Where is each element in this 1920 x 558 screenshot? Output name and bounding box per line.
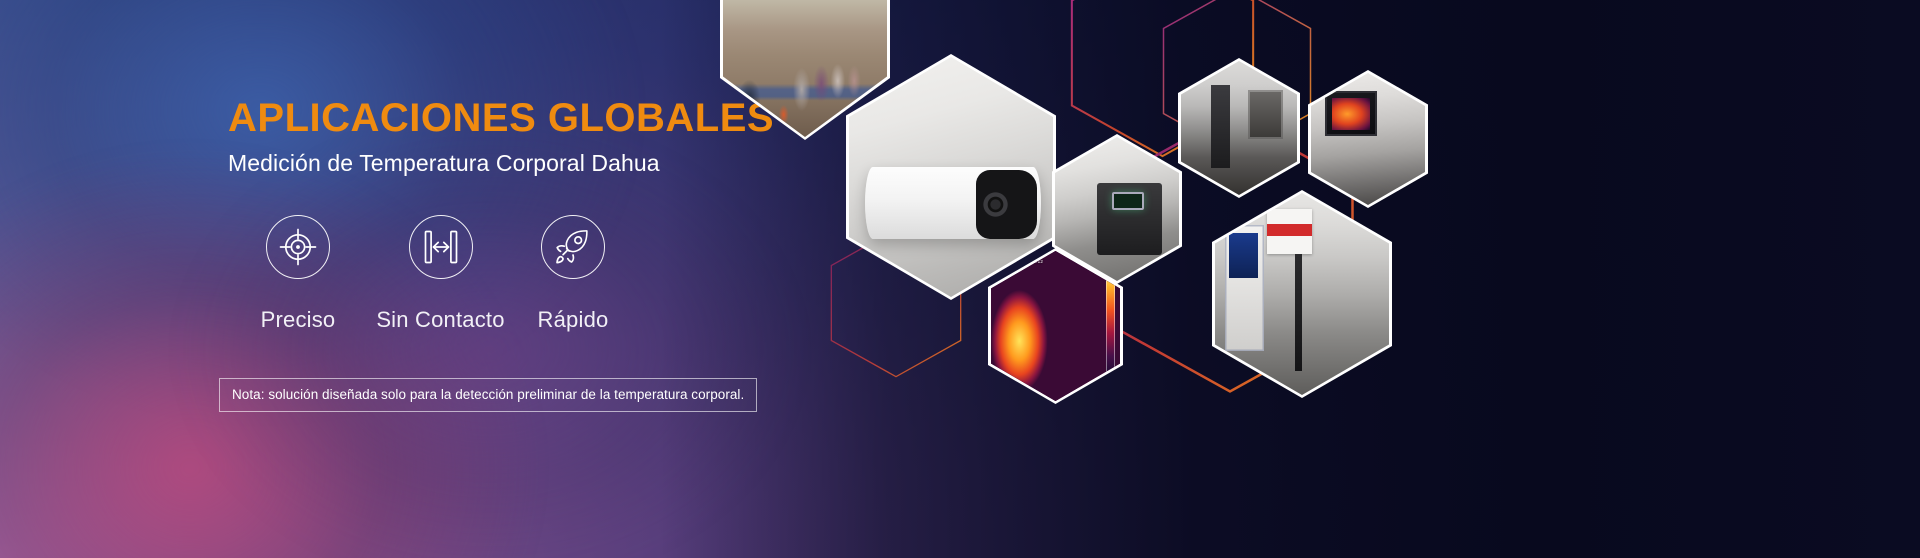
left-content-area: APLICACIONES GLOBALES Medición de Temper…: [0, 0, 760, 558]
warning-sign: [1267, 209, 1312, 253]
feature-sin-contacto: Sin Contacto: [368, 215, 513, 333]
page-title: APLICACIONES GLOBALES: [228, 96, 774, 141]
hexagon-photo-collage: 2020-03-31 13:36:12: [700, 0, 1920, 558]
rocket-icon: [541, 215, 605, 279]
sign-red-bar: [1267, 224, 1312, 236]
crosshair-target-icon: [266, 215, 330, 279]
page-subtitle: Medición de Temperatura Corporal Dahua: [228, 150, 660, 177]
distance-measure-icon: [409, 215, 473, 279]
feature-label: Rápido: [538, 307, 609, 333]
disclaimer-note: Nota: solución diseñada solo para la det…: [219, 378, 757, 412]
gate-post: [1295, 254, 1302, 371]
dahua-temperature-banner: APLICACIONES GLOBALES Medición de Temper…: [0, 0, 1920, 558]
feature-list: Preciso Sin Contacto: [228, 215, 633, 333]
feature-label: Sin Contacto: [376, 307, 504, 333]
feature-label: Preciso: [261, 307, 336, 333]
feature-rapido: Rápido: [513, 215, 633, 333]
feature-preciso: Preciso: [228, 215, 368, 333]
